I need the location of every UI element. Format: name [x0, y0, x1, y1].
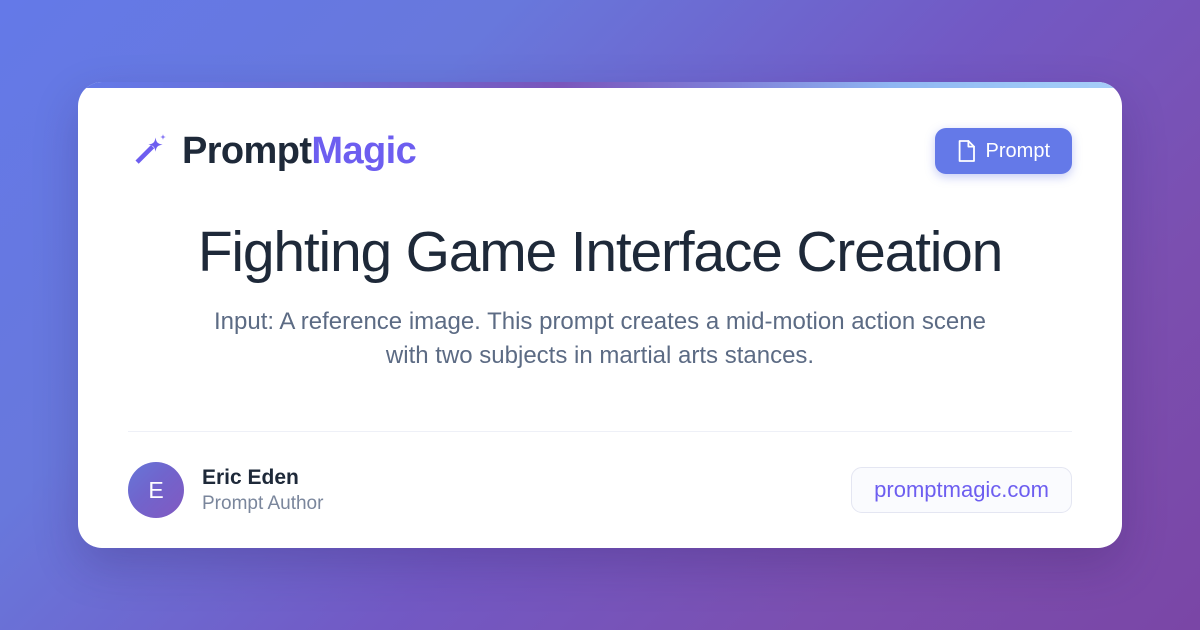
author-meta: Eric Eden Prompt Author [202, 465, 323, 516]
page-subtitle: Input: A reference image. This prompt cr… [205, 305, 995, 373]
page-title: Fighting Game Interface Creation [198, 222, 1002, 284]
card-footer: E Eric Eden Prompt Author promptmagic.co… [128, 432, 1072, 548]
prompt-button[interactable]: Prompt [935, 128, 1072, 174]
card-surface: PromptMagic Prompt Fighting Game Interfa… [78, 82, 1122, 548]
file-document-icon [957, 140, 976, 162]
website-badge[interactable]: promptmagic.com [851, 467, 1072, 513]
brand-logo[interactable]: PromptMagic [128, 131, 416, 171]
card-main: Fighting Game Interface Creation Input: … [128, 174, 1072, 431]
brand-wordmark: PromptMagic [182, 132, 416, 170]
brand-name-secondary: Magic [311, 130, 416, 172]
author-name: Eric Eden [202, 465, 323, 490]
author-role: Prompt Author [202, 493, 323, 516]
prompt-button-label: Prompt [986, 141, 1050, 161]
magic-wand-icon [128, 131, 168, 171]
og-card: PromptMagic Prompt Fighting Game Interfa… [78, 82, 1122, 548]
card-content: PromptMagic Prompt Fighting Game Interfa… [78, 82, 1122, 548]
author-block: E Eric Eden Prompt Author [128, 462, 323, 518]
avatar: E [128, 462, 184, 518]
brand-name-primary: Prompt [182, 130, 311, 172]
card-header: PromptMagic Prompt [128, 128, 1072, 174]
